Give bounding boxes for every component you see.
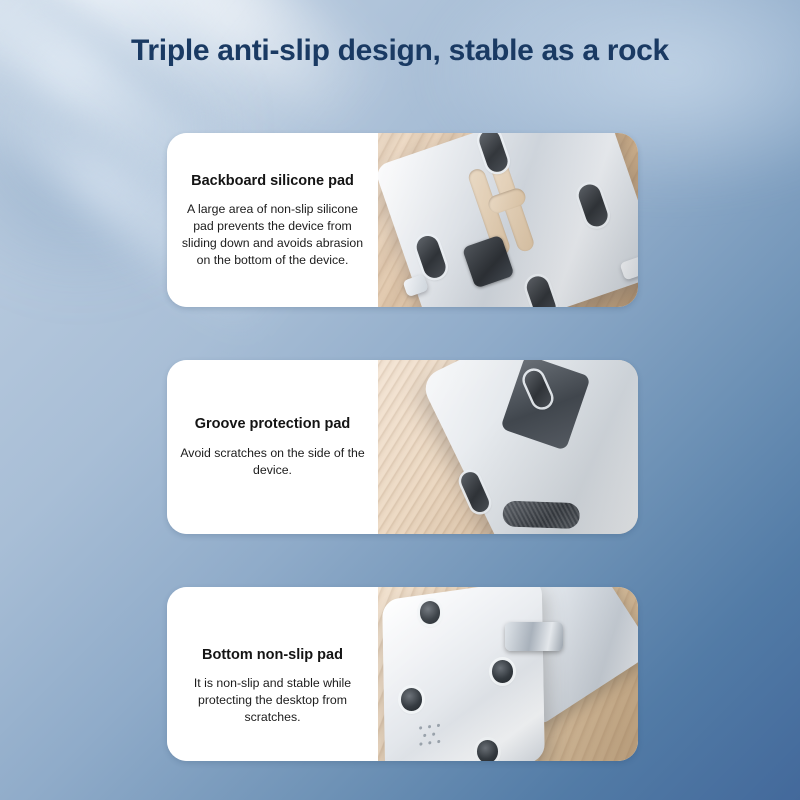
feature-card: Backboard silicone pad A large area of n… bbox=[167, 133, 638, 307]
feature-card-title: Backboard silicone pad bbox=[191, 172, 354, 190]
laptop-stand-backplate bbox=[378, 133, 638, 307]
feature-card-text: Groove protection pad Avoid scratches on… bbox=[167, 360, 378, 534]
feature-card-list: Backboard silicone pad A large area of n… bbox=[167, 133, 638, 761]
feature-card: Groove protection pad Avoid scratches on… bbox=[167, 360, 638, 534]
feature-card-photo bbox=[378, 360, 638, 534]
bottom-non-slip-pad bbox=[420, 601, 441, 624]
page-title: Triple anti-slip design, stable as a roc… bbox=[0, 34, 800, 68]
feature-card: Bottom non-slip pad It is non-slip and s… bbox=[167, 587, 638, 761]
feature-card-title: Groove protection pad bbox=[195, 415, 351, 433]
feature-card-body: It is non-slip and stable while protecti… bbox=[179, 675, 366, 726]
bottom-non-slip-pad bbox=[492, 660, 513, 683]
laptop-stand-hinge bbox=[505, 622, 562, 652]
feature-card-text: Bottom non-slip pad It is non-slip and s… bbox=[167, 587, 378, 761]
feature-card-photo bbox=[378, 133, 638, 307]
background-light-streak bbox=[70, 0, 409, 151]
bottom-non-slip-pad bbox=[401, 688, 422, 711]
feature-card-title: Bottom non-slip pad bbox=[202, 646, 343, 664]
product-feature-page: Triple anti-slip design, stable as a roc… bbox=[0, 0, 800, 800]
bottom-non-slip-pad bbox=[477, 740, 498, 761]
feature-card-body: Avoid scratches on the side of the devic… bbox=[179, 445, 366, 479]
vent-dot-pattern bbox=[420, 723, 454, 754]
feature-card-body: A large area of non-slip silicone pad pr… bbox=[179, 201, 366, 269]
feature-card-text: Backboard silicone pad A large area of n… bbox=[167, 133, 378, 307]
laptop-stand-base-underside bbox=[382, 587, 545, 761]
feature-card-photo bbox=[378, 587, 638, 761]
